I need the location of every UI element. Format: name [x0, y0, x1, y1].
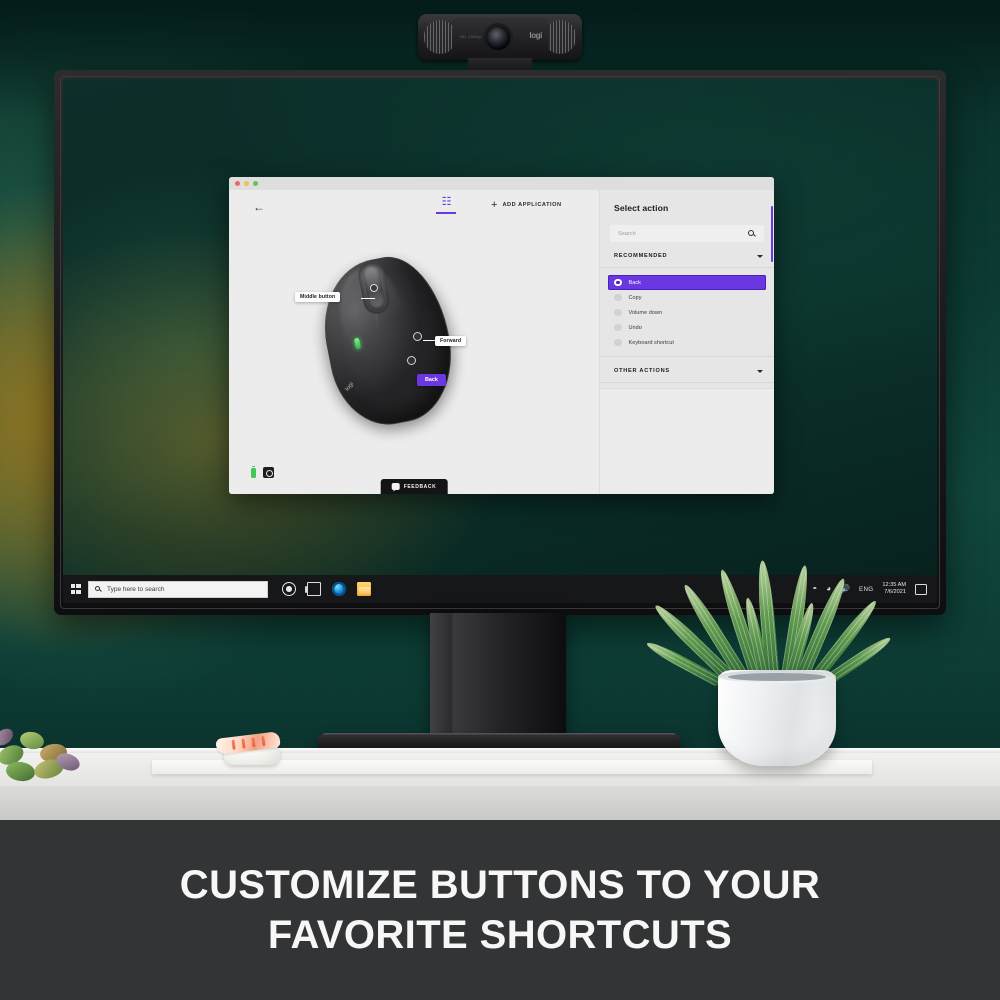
clock: 12:35 AM 7/6/2021	[882, 582, 906, 596]
panel-scrollbar[interactable]	[771, 206, 773, 262]
search-icon	[95, 586, 102, 593]
option-undo[interactable]: Undo	[608, 320, 766, 335]
webcam-brand-logo: logi	[529, 31, 542, 40]
option-label: Undo	[629, 325, 642, 331]
select-action-panel: Select action RECOMMENDED	[599, 190, 774, 494]
recommended-options-list: Back Copy Volume down	[600, 268, 774, 350]
app-toolbar: ← ☷ + ADD APPLICATION	[229, 190, 599, 224]
logitech-webcam: HD 1080p logi	[418, 14, 582, 76]
sushi-nigiri	[214, 729, 286, 765]
webcam-model-label: HD 1080p	[460, 34, 481, 39]
feedback-button[interactable]: FEEDBACK	[381, 479, 448, 494]
webcam-lens-icon	[486, 26, 510, 50]
window-titlebar	[229, 177, 774, 190]
callout-forward-button[interactable]: Forward	[435, 336, 466, 346]
option-label: Copy	[629, 295, 642, 301]
option-keyboard-shortcut[interactable]: Keyboard shortcut	[608, 335, 766, 350]
action-center-icon[interactable]	[915, 584, 927, 595]
section-header-other-actions[interactable]: OTHER ACTIONS	[600, 356, 774, 383]
device-pane: ← ☷ + ADD APPLICATION	[229, 190, 599, 494]
tab-applications[interactable]: ☷	[433, 196, 459, 214]
cortana-icon[interactable]	[282, 582, 296, 596]
middle-button-hotspot[interactable]	[370, 284, 378, 292]
monitor-stand-neck	[430, 613, 566, 743]
taskbar-search-placeholder: Type here to search	[107, 586, 164, 593]
task-view-icon[interactable]	[307, 582, 321, 596]
action-search-row[interactable]	[610, 225, 764, 242]
radio-icon[interactable]	[614, 309, 622, 317]
callout-middle-button[interactable]: Middle button	[295, 292, 340, 302]
clock-date: 7/6/2021	[882, 589, 906, 596]
plus-icon: +	[491, 200, 497, 210]
caption-banner: CUSTOMIZE BUTTONS TO YOUR FAVORITE SHORT…	[0, 820, 1000, 1000]
panel-title: Select action	[600, 190, 774, 213]
pot-soil	[728, 673, 826, 681]
option-copy[interactable]: Copy	[608, 290, 766, 305]
back-button-hotspot[interactable]	[407, 356, 416, 365]
battery-icon[interactable]	[251, 468, 256, 478]
minimize-icon[interactable]	[244, 181, 249, 186]
search-icon[interactable]	[748, 230, 756, 238]
section-title-recommended: RECOMMENDED	[614, 253, 667, 259]
mouse-illustration: logi Middle button Forward Back	[307, 232, 487, 432]
microsoft-edge-icon[interactable]	[332, 582, 346, 596]
computer-monitor: ← ☷ + ADD APPLICATION	[54, 70, 946, 615]
option-volume-down[interactable]: Volume down	[608, 305, 766, 320]
add-application-button[interactable]: + ADD APPLICATION	[491, 200, 562, 210]
radio-icon[interactable]	[614, 324, 622, 332]
feedback-label: FEEDBACK	[404, 484, 437, 490]
option-label: Back	[629, 280, 641, 286]
maximize-icon[interactable]	[253, 181, 258, 186]
panel-empty-area	[600, 388, 774, 494]
add-application-label: ADD APPLICATION	[502, 202, 561, 208]
callout-leader-middle	[361, 298, 375, 299]
product-lifestyle-image: HD 1080p logi	[0, 0, 1000, 1000]
radio-icon[interactable]	[614, 294, 622, 302]
assigned-action-badge[interactable]: Back	[417, 374, 446, 386]
logi-options-window: ← ☷ + ADD APPLICATION	[229, 177, 774, 494]
forward-button-hotspot[interactable]	[413, 332, 422, 341]
windows-start-icon[interactable]	[67, 581, 84, 598]
taskbar-pinned-icons	[282, 582, 371, 596]
language-indicator[interactable]: ENG	[859, 586, 873, 593]
photo-area: HD 1080p logi	[0, 0, 1000, 820]
file-explorer-icon[interactable]	[357, 582, 371, 596]
caption-line-1: CUSTOMIZE BUTTONS TO YOUR	[180, 860, 820, 910]
action-search-input[interactable]	[618, 231, 748, 237]
monitor-screen: ← ☷ + ADD APPLICATION	[63, 79, 937, 603]
taskbar-search-box[interactable]: Type here to search	[88, 581, 268, 598]
option-back[interactable]: Back	[608, 275, 766, 290]
section-header-recommended[interactable]: RECOMMENDED	[600, 242, 774, 268]
window-body: ← ☷ + ADD APPLICATION	[229, 190, 774, 494]
clock-time: 12:35 AM	[882, 582, 906, 589]
webcam-body: HD 1080p logi	[418, 14, 582, 60]
desk-side-panel	[0, 786, 1000, 820]
back-navigation-icon[interactable]: ←	[253, 201, 265, 213]
chat-bubble-icon	[392, 483, 400, 490]
caption-line-2: FAVORITE SHORTCUTS	[268, 910, 732, 960]
ceramic-pot	[718, 670, 836, 766]
tab-active-underline	[436, 212, 456, 214]
webcam-mic-grill-right	[544, 20, 576, 54]
option-label: Keyboard shortcut	[629, 340, 674, 346]
chevron-down-icon[interactable]	[757, 255, 763, 258]
apps-grid-icon: ☷	[433, 196, 459, 208]
radio-icon[interactable]	[614, 279, 622, 287]
device-settings-icon[interactable]	[263, 467, 274, 478]
succulent-in-white-pot	[704, 566, 852, 766]
section-title-other-actions: OTHER ACTIONS	[614, 368, 670, 374]
monitor-stand-neck-highlight	[430, 613, 452, 743]
option-label: Volume down	[629, 310, 663, 316]
chevron-down-icon[interactable]	[757, 370, 763, 373]
close-icon[interactable]	[235, 181, 240, 186]
device-status-bar	[251, 467, 274, 478]
radio-icon[interactable]	[614, 339, 622, 347]
jade-plant	[0, 716, 114, 780]
